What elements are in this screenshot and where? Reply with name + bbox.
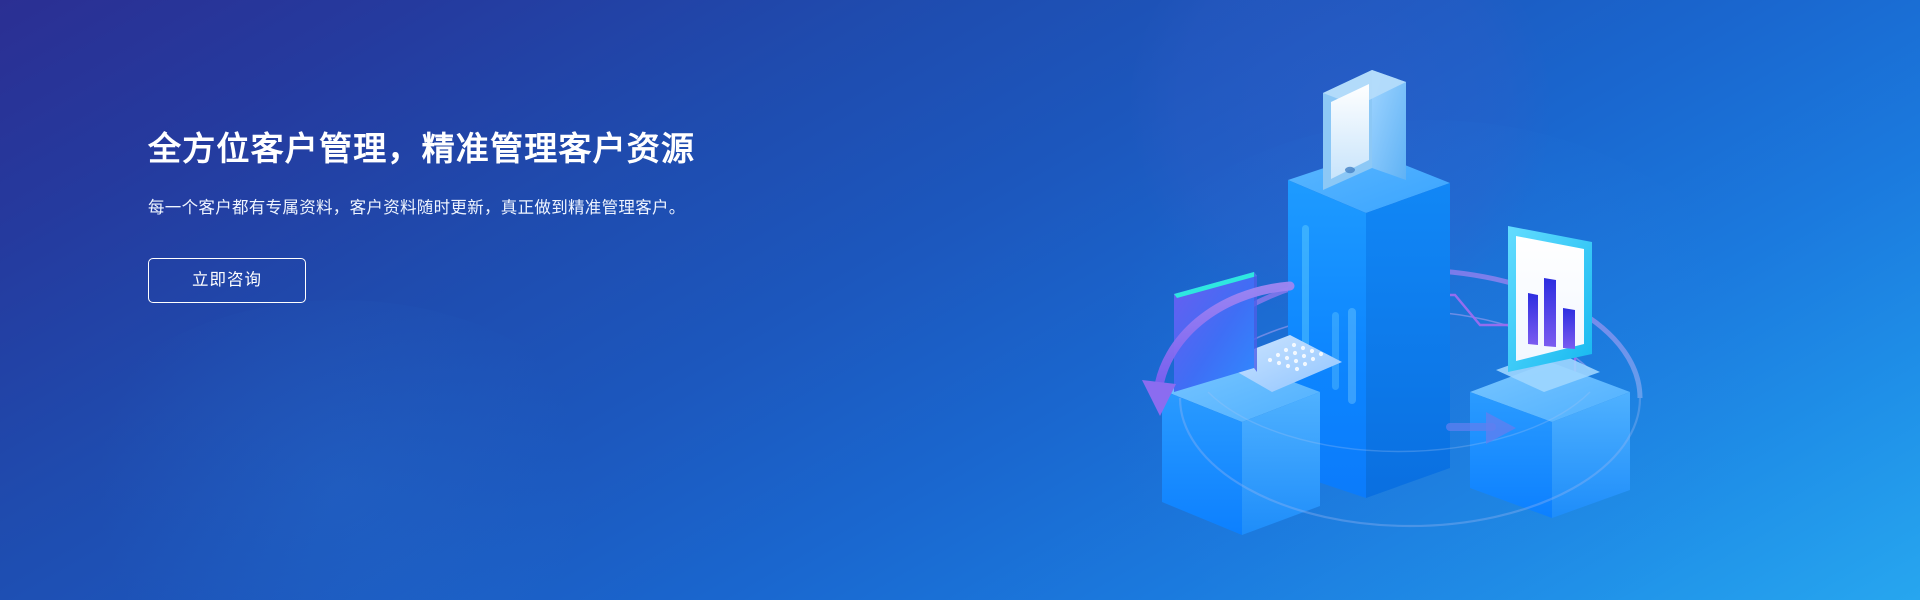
hero-copy-block: 全方位客户管理，精准管理客户资源 每一个客户都有专属资料，客户资料随时更新，真正…	[148, 128, 788, 303]
monitor-device	[1496, 226, 1600, 392]
consult-now-button[interactable]: 立即咨询	[148, 258, 306, 303]
page-title: 全方位客户管理，精准管理客户资源	[148, 128, 788, 169]
hero-subcopy: 每一个客户都有专属资料，客户资料随时更新，真正做到精准管理客户。	[148, 195, 738, 222]
hero-illustration	[1120, 40, 1700, 560]
background-blob-left	[60, 300, 620, 600]
hero-banner: 全方位客户管理，精准管理客户资源 每一个客户都有专属资料，客户资料随时更新，真正…	[0, 0, 1920, 600]
